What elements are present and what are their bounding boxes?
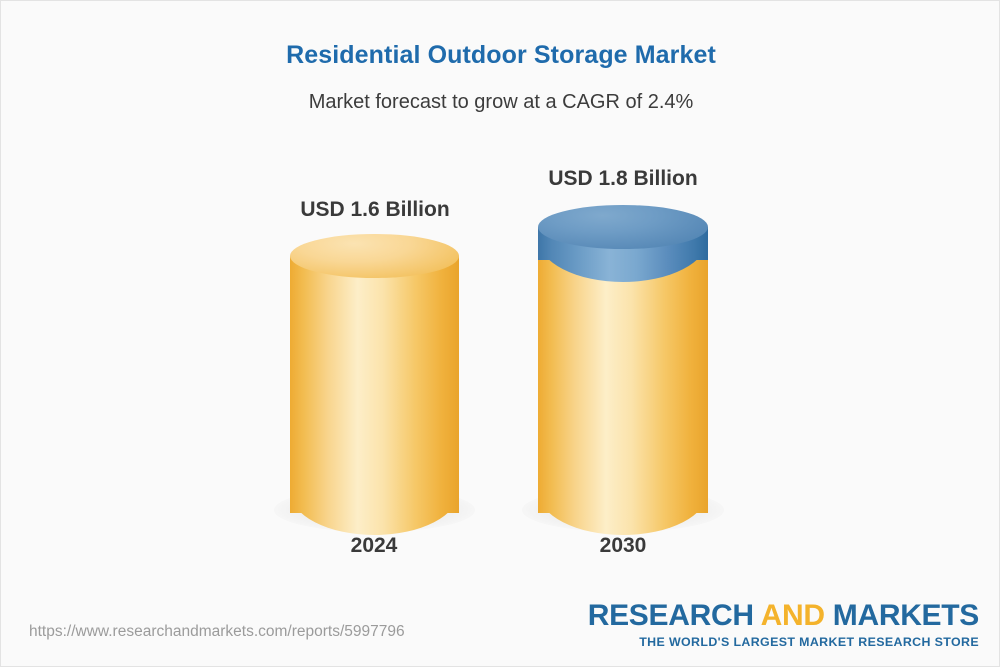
bar-top-cap-2030 (538, 205, 708, 249)
bar-body-2030-gold (538, 259, 708, 513)
brand-logo: RESEARCH AND MARKETS THE WORLD'S LARGEST… (588, 601, 979, 649)
brand-word-markets: MARKETS (825, 599, 979, 632)
category-label-2024: 2024 (269, 534, 479, 558)
chart-canvas: Residential Outdoor Storage Market Marke… (0, 0, 1000, 667)
bar-body-2024-gold (290, 256, 459, 513)
bar-top-cap-2024 (290, 234, 459, 278)
source-url[interactable]: https://www.researchandmarkets.com/repor… (29, 623, 405, 641)
bar-bottom-2024 (290, 491, 459, 535)
value-label-2030: USD 1.8 Billion (518, 167, 728, 191)
brand-wordmark: RESEARCH AND MARKETS (588, 601, 979, 631)
value-label-2024: USD 1.6 Billion (270, 198, 480, 222)
category-label-2030: 2030 (518, 534, 728, 558)
bar-bottom-2030 (538, 491, 708, 535)
plot-area: USD 1.6 Billion 2024 USD 1.8 Billion 203… (1, 1, 1000, 601)
brand-word-and: AND (761, 599, 825, 632)
brand-word-research: RESEARCH (588, 599, 761, 632)
brand-tagline: THE WORLD'S LARGEST MARKET RESEARCH STOR… (588, 635, 979, 649)
